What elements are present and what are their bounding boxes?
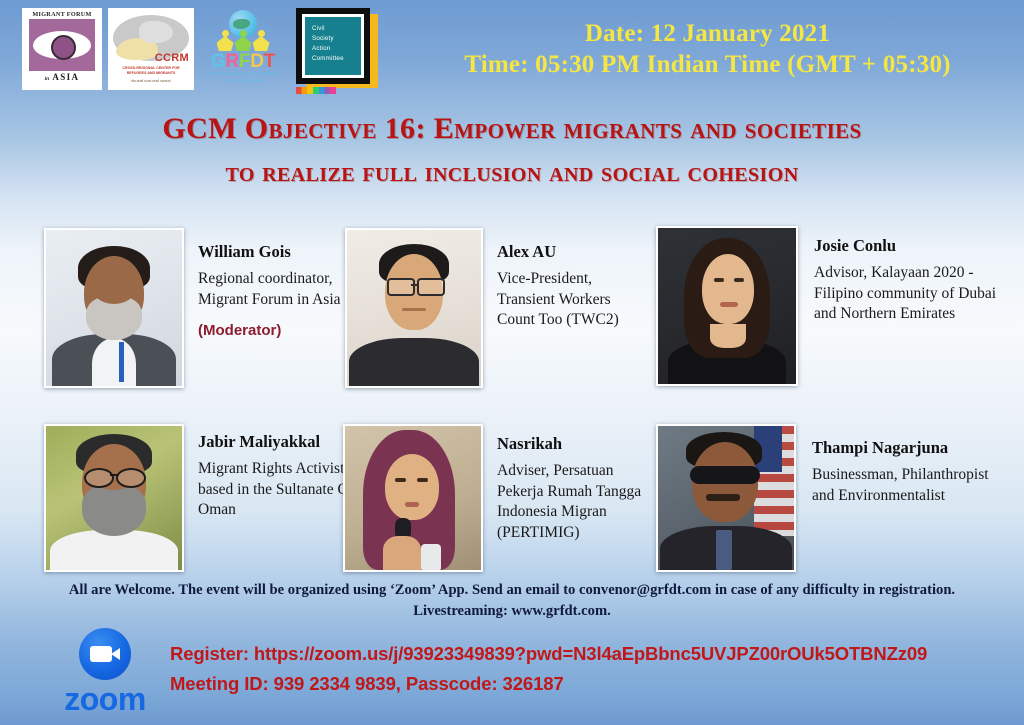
welcome-line-2: Livestreaming: www.grfdt.com. bbox=[20, 601, 1004, 622]
register-link[interactable]: Register: https://zoom.us/j/93923349839?… bbox=[170, 640, 1020, 669]
csac-line-1: Civil bbox=[312, 24, 361, 34]
speaker-role: Businessman, Philanthropist and Environm… bbox=[812, 465, 1002, 506]
migrant-forum-in-asia-logo: MIGRANT FORUM in ASIA bbox=[22, 8, 102, 90]
speaker-card-jabir-maliyakkal: Jabir Maliyakkal Migrant Rights Activist… bbox=[44, 424, 354, 572]
speaker-name: Thampi Nagarjuna bbox=[812, 438, 1002, 458]
title-line-1: GCM Objective 16: Empower migrants and s… bbox=[18, 106, 1006, 151]
person-figure bbox=[253, 30, 270, 51]
avatar bbox=[343, 424, 483, 572]
avatar bbox=[345, 228, 483, 388]
ccrm-subtitle: CROSS-REGIONAL CENTER FOR REFUGEES AND M… bbox=[114, 66, 188, 75]
page-title: GCM Objective 16: Empower migrants and s… bbox=[18, 106, 1006, 196]
speaker-info: Thampi Nagarjuna Businessman, Philanthro… bbox=[796, 424, 1002, 506]
grfdt-logo: GRFDT Global Research Forum on Diaspora … bbox=[200, 8, 286, 92]
speaker-info: Alex AU Vice-President, Transient Worker… bbox=[483, 228, 647, 331]
teal-panel: Civil Society Action Committee bbox=[305, 17, 361, 75]
mfa-top-text: MIGRANT FORUM bbox=[32, 11, 91, 18]
civil-society-action-committee-logo: Civil Society Action Committee bbox=[292, 8, 380, 94]
zoom-wordmark: zoom bbox=[45, 681, 165, 718]
csac-line-2: Society bbox=[312, 34, 361, 44]
mfa-in-word: in bbox=[45, 76, 50, 82]
ccrm-wordmark: CCRM bbox=[155, 52, 189, 64]
csac-line-4: Committee bbox=[312, 54, 361, 64]
speaker-role: Advisor, Kalayaan 2020 - Filipino commun… bbox=[814, 263, 1010, 325]
speaker-name: William Gois bbox=[198, 242, 354, 262]
csac-line-3: Action bbox=[312, 44, 361, 54]
grfdt-subtitle: Global Research Forum on Diaspora and Tr… bbox=[203, 71, 283, 84]
speaker-role: Migrant Rights Activist based in the Sul… bbox=[198, 459, 354, 521]
speaker-role: Vice-President, Transient Workers Count … bbox=[497, 269, 647, 331]
speaker-card-nasrikah: Nasrikah Adviser, Persatuan Pekerja Ruma… bbox=[343, 424, 657, 572]
video-camera-icon bbox=[79, 628, 131, 680]
registration-details: Register: https://zoom.us/j/93923349839?… bbox=[170, 640, 1020, 698]
speaker-info: William Gois Regional coordinator, Migra… bbox=[184, 228, 354, 339]
mfa-asia-word: ASIA bbox=[52, 72, 79, 82]
rainbow-accent-bar bbox=[296, 87, 336, 94]
people-icon bbox=[213, 30, 273, 52]
speaker-name: Josie Conlu bbox=[814, 236, 1010, 256]
speaker-info: Nasrikah Adviser, Persatuan Pekerja Ruma… bbox=[483, 424, 657, 544]
speaker-card-william-gois: William Gois Regional coordinator, Migra… bbox=[44, 228, 354, 388]
event-time: Time: 05:30 PM Indian Time (GMT + 05:30) bbox=[400, 49, 1015, 82]
avatar bbox=[44, 228, 184, 388]
speaker-card-thampi-nagarjuna: Thampi Nagarjuna Businessman, Philanthro… bbox=[656, 424, 1002, 572]
event-datetime: Date: 12 January 2021 Time: 05:30 PM Ind… bbox=[400, 18, 1015, 82]
grfdt-wordmark: GRFDT bbox=[200, 51, 286, 73]
speaker-role: Adviser, Persatuan Pekerja Rumah Tangga … bbox=[497, 461, 657, 543]
white-frame: Civil Society Action Committee bbox=[302, 14, 364, 78]
ccrm-subtitle-secondary: rifa arafi sunir mad namuni bbox=[114, 79, 188, 83]
person-figure bbox=[235, 30, 252, 51]
partner-logos: MIGRANT FORUM in ASIA CCRM CROSS-REGIONA… bbox=[22, 8, 380, 94]
speaker-name: Nasrikah bbox=[497, 434, 657, 454]
event-date: Date: 12 January 2021 bbox=[400, 18, 1015, 49]
welcome-line-1: All are Welcome. The event will be organ… bbox=[20, 580, 1004, 601]
avatar bbox=[656, 424, 796, 572]
meeting-id-passcode: Meeting ID: 939 2334 9839, Passcode: 326… bbox=[170, 669, 1020, 699]
person-figure bbox=[217, 30, 234, 51]
speaker-card-alex-au: Alex AU Vice-President, Transient Worker… bbox=[345, 228, 647, 388]
mfa-bottom-text: in ASIA bbox=[45, 72, 80, 82]
webinar-poster: MIGRANT FORUM in ASIA CCRM CROSS-REGIONA… bbox=[0, 0, 1024, 725]
speaker-tag-moderator: (Moderator) bbox=[198, 322, 354, 339]
avatar bbox=[656, 226, 798, 386]
zoom-logo: zoom bbox=[45, 628, 165, 718]
avatar bbox=[44, 424, 184, 572]
speaker-info: Jabir Maliyakkal Migrant Rights Activist… bbox=[184, 424, 354, 521]
speaker-card-josie-conlu: Josie Conlu Advisor, Kalayaan 2020 - Fil… bbox=[656, 226, 1010, 386]
speaker-name: Jabir Maliyakkal bbox=[198, 432, 354, 452]
ccrm-logo: CCRM CROSS-REGIONAL CENTER FOR REFUGEES … bbox=[108, 8, 194, 90]
title-line-2: to realize full inclusion and social coh… bbox=[18, 151, 1006, 196]
speaker-name: Alex AU bbox=[497, 242, 647, 262]
eye-icon bbox=[29, 19, 95, 71]
black-frame: Civil Society Action Committee bbox=[296, 8, 370, 84]
speaker-info: Josie Conlu Advisor, Kalayaan 2020 - Fil… bbox=[798, 226, 1010, 325]
welcome-note: All are Welcome. The event will be organ… bbox=[20, 580, 1004, 622]
speaker-role: Regional coordinator, Migrant Forum in A… bbox=[198, 269, 354, 310]
